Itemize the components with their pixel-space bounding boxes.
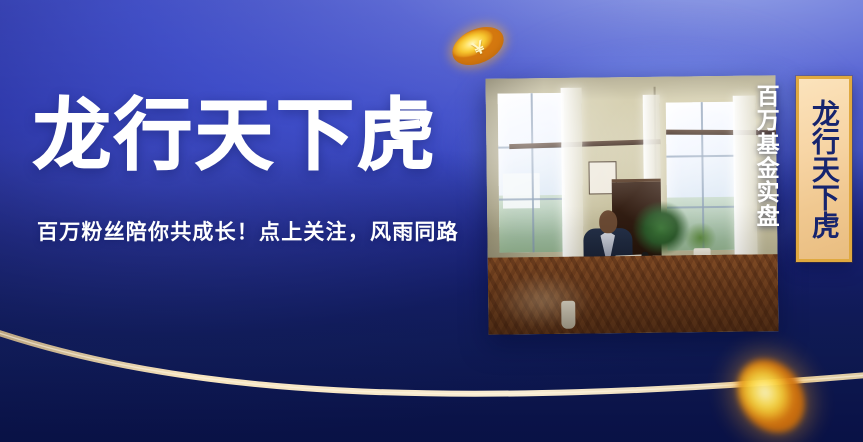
page-subtitle: 百万粉丝陪你共成长！点上关注，风雨同路 bbox=[37, 216, 503, 246]
promo-banner: 龙行天下虎 百万粉丝陪你共成长！点上关注，风雨同路 百万基金实盘 龙行天下虎 ￥ bbox=[0, 0, 863, 442]
brand-badge-label: 龙行天下虎 bbox=[809, 99, 839, 239]
office-photo bbox=[485, 75, 778, 335]
brand-badge: 龙行天下虎 bbox=[796, 76, 852, 262]
office-photo-image bbox=[485, 75, 778, 335]
vertical-caption: 百万基金实盘 bbox=[752, 84, 779, 228]
headline-block: 龙行天下虎 百万粉丝陪你共成长！点上关注，风雨同路 bbox=[33, 96, 503, 246]
page-title: 龙行天下虎 bbox=[33, 96, 503, 174]
photo-lighting-overlay bbox=[485, 75, 778, 335]
